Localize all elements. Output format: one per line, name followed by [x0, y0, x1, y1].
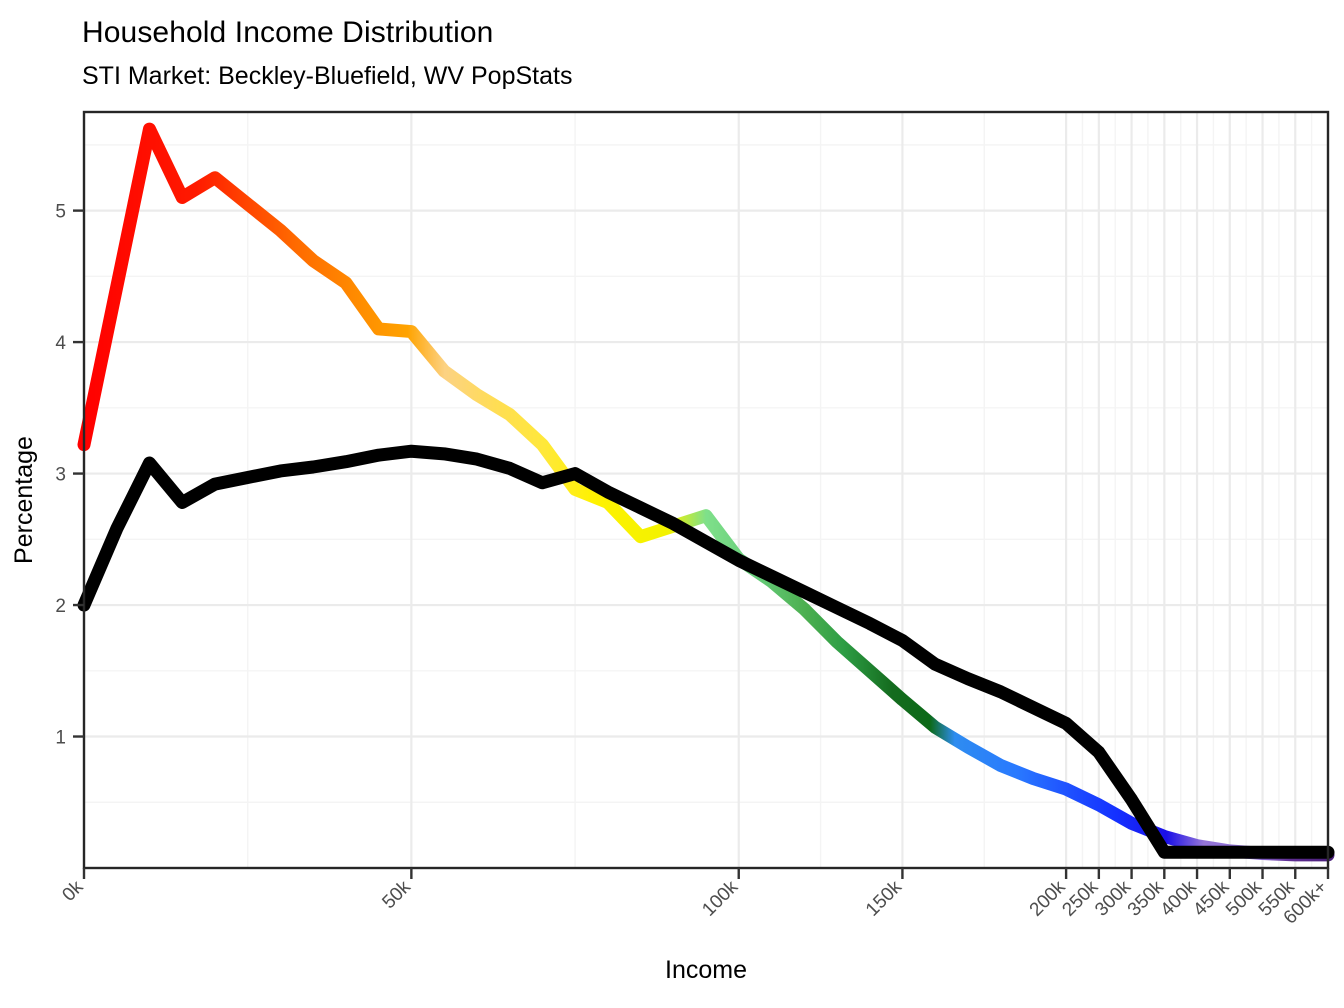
x-tick-label: 350k	[1124, 876, 1168, 920]
x-axis-tick-labels: 0k50k100k150k200k250k300k350k400k450k500…	[58, 876, 1331, 928]
x-tick-label: 50k	[378, 876, 415, 913]
y-tick-label: 5	[55, 202, 66, 223]
x-tick-label: 400k	[1157, 876, 1201, 920]
x-tick-label: 0k	[58, 876, 87, 905]
y-tick-label: 2	[55, 596, 66, 617]
x-tick-label: 500k	[1222, 876, 1266, 920]
x-axis-ticks	[84, 868, 1328, 879]
x-axis-title: Income	[665, 956, 747, 984]
y-tick-label: 1	[55, 728, 66, 749]
chart-canvas: Household Income Distribution STI Market…	[0, 0, 1344, 1008]
y-tick-label: 3	[55, 465, 66, 486]
y-tick-label: 4	[55, 333, 66, 354]
income-distribution-plot: 0k50k100k150k200k250k300k350k400k450k500…	[0, 0, 1344, 1008]
series-layer	[84, 129, 1328, 855]
x-tick-label: 200k	[1026, 876, 1070, 920]
y-axis-title: Percentage	[10, 436, 38, 564]
x-tick-label: 150k	[862, 876, 906, 920]
y-axis-tick-labels: 12345	[55, 202, 66, 749]
x-tick-label: 250k	[1058, 876, 1102, 920]
x-tick-label: 100k	[698, 876, 742, 920]
series-line	[84, 129, 1328, 855]
x-tick-label: 300k	[1091, 876, 1135, 920]
y-axis-ticks	[73, 211, 84, 737]
x-tick-label: 450k	[1189, 876, 1233, 920]
